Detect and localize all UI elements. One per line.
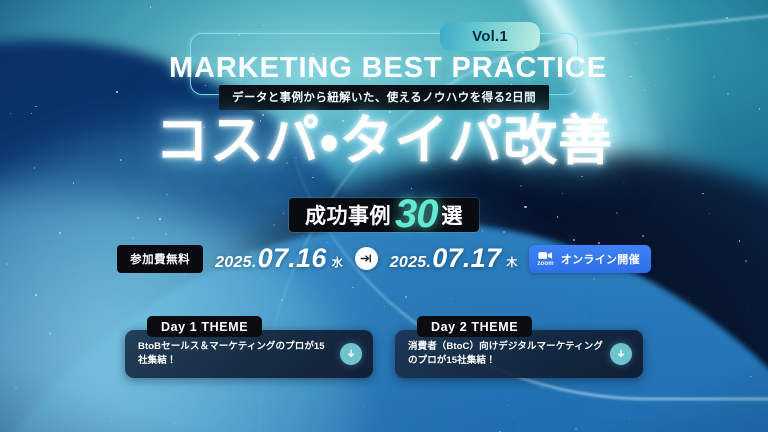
theme-card-day2-tag-label: Day 2 THEME (431, 320, 518, 334)
theme-cards: Day 1 THEME BtoBセールス＆マーケティングのプロが15社集結！ D… (0, 330, 768, 378)
date-start: 2025. 07.16 水 (215, 243, 343, 274)
zoom-badge-label: オンライン開催 (561, 251, 640, 267)
theme-card-day1-tag-label: Day 1 THEME (161, 320, 248, 334)
date-start-dow: 水 (332, 254, 343, 270)
count-number: 30 (395, 194, 438, 234)
volume-badge: Vol.1 (440, 22, 540, 51)
count-prefix: 成功事例 (305, 200, 391, 230)
date-start-monthday: 07.16 (258, 243, 327, 274)
subtitle-band: データと事例から紐解いた、使えるノウハウを得る2日間 (219, 85, 549, 110)
theme-card-day1-tag: Day 1 THEME (147, 316, 262, 337)
date-end-year: 2025. (390, 254, 432, 272)
page-title: MARKETING BEST PRACTICE (0, 52, 768, 85)
free-admission-badge: 参加費無料 (117, 245, 203, 273)
theme-card-day2-text: 消費者（BtoC）向けデジタルマーケティングのプロが15社集結！ (408, 340, 603, 368)
theme-card-day2-tag: Day 2 THEME (417, 316, 532, 337)
theme-card-day2[interactable]: Day 2 THEME 消費者（BtoC）向けデジタルマーケティングのプロが15… (395, 330, 643, 378)
subtitle-text: データと事例から紐解いた、使えるノウハウを得る2日間 (232, 92, 536, 104)
download-arrow-icon[interactable] (610, 343, 632, 365)
banner-content: Vol.1 MARKETING BEST PRACTICE データと事例から紐解… (0, 0, 768, 432)
date-row: 参加費無料 2025. 07.16 水 2025. 07.17 木 (0, 243, 768, 274)
headline: コスパ・タイパ改善 (0, 112, 768, 170)
date-start-year: 2025. (215, 254, 257, 272)
count-suffix: 選 (442, 200, 464, 230)
date-end-monthday: 07.17 (432, 243, 501, 274)
zoom-logo-word: zoom (537, 261, 553, 267)
event-banner: Vol.1 MARKETING BEST PRACTICE データと事例から紐解… (0, 0, 768, 432)
theme-card-day1[interactable]: Day 1 THEME BtoBセールス＆マーケティングのプロが15社集結！ (125, 330, 373, 378)
free-admission-label: 参加費無料 (130, 251, 190, 267)
arrow-right-to-bar-icon (355, 247, 378, 270)
success-count-badge: 成功事例 30 選 (289, 198, 479, 232)
video-camera-icon (538, 251, 553, 260)
date-end: 2025. 07.17 木 (390, 243, 518, 274)
download-arrow-icon[interactable] (340, 343, 362, 365)
date-end-dow: 木 (506, 254, 517, 270)
theme-card-day1-text: BtoBセールス＆マーケティングのプロが15社集結！ (138, 340, 333, 368)
zoom-online-badge: zoom オンライン開催 (529, 245, 651, 273)
zoom-logo: zoom (537, 251, 553, 267)
volume-badge-label: Vol.1 (472, 28, 508, 45)
